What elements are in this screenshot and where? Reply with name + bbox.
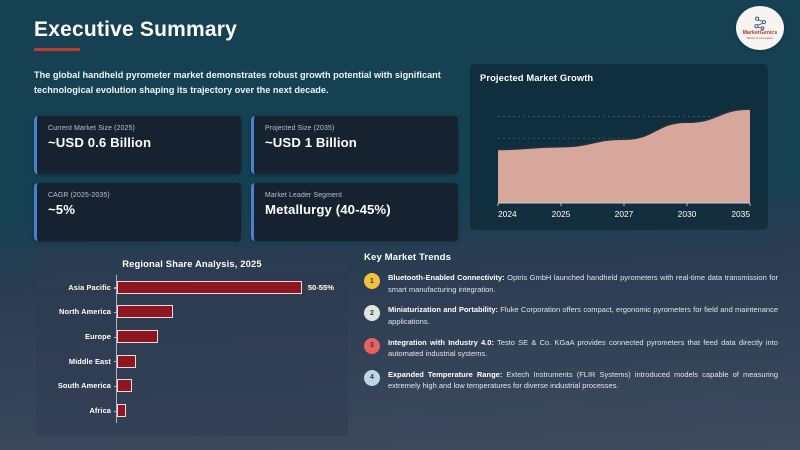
trend-item: 1Bluetooth-Enabled Connectivity: Optris … (364, 272, 778, 295)
slide-root: Executive Summary MarketGenics Minds In … (0, 0, 800, 450)
trend-heading: Integration with Industry 4.0: (388, 338, 494, 347)
logo-tagline: Minds In Innovation (747, 37, 773, 40)
bar-category-label: Middle East (69, 357, 111, 366)
metric-label: CAGR (2025-2035) (48, 192, 230, 199)
trend-text: Miniaturization and Portability: Fluke C… (388, 304, 778, 327)
bar-fill (117, 404, 126, 417)
bar-fill (117, 379, 132, 392)
trend-heading: Expanded Temperature Range: (388, 370, 502, 379)
trend-heading: Miniaturization and Portability: (388, 305, 498, 314)
chart-title: Projected Market Growth (480, 72, 758, 83)
bar-category-label: Asia Pacific (68, 283, 111, 292)
bar-category-label: Europe (85, 332, 111, 341)
logo-name: MarketGenics (743, 31, 778, 36)
header: Executive Summary (34, 18, 237, 51)
trend-item: 4Expanded Temperature Range: Extech Inst… (364, 369, 778, 392)
bar-fill (117, 330, 158, 343)
y-tick (114, 337, 117, 338)
bar-row: Middle East (117, 355, 334, 368)
metric-card: Projected Size (2035) ~USD 1 Billion (251, 116, 458, 174)
intro-paragraph: The global handheld pyrometer market dem… (34, 68, 444, 98)
metric-value: Metallurgy (40-45%) (265, 203, 447, 218)
x-tick-label: 2035 (731, 209, 750, 219)
metric-label: Projected Size (2035) (265, 125, 447, 132)
bar-row: Europe (117, 330, 334, 343)
page-title: Executive Summary (34, 18, 237, 41)
x-tick-label: 2027 (615, 209, 634, 219)
bar-category-label: North America (59, 307, 111, 316)
x-tick-label: 2030 (678, 209, 697, 219)
metric-value: ~5% (48, 203, 230, 218)
bar-chart: Asia Pacific50-55%North AmericaEuropeMid… (116, 275, 334, 423)
bar-fill (117, 305, 173, 318)
trend-number-badge: 2 (364, 305, 380, 321)
trend-text: Expanded Temperature Range: Extech Instr… (388, 369, 778, 392)
y-tick (114, 287, 117, 288)
bar-row: North America (117, 305, 334, 318)
chart-title: Regional Share Analysis, 2025 (44, 258, 340, 269)
trend-text: Integration with Industry 4.0: Testo SE … (388, 337, 778, 360)
trend-item: 3Integration with Industry 4.0: Testo SE… (364, 337, 778, 360)
bar-row: Africa (117, 404, 334, 417)
y-tick (114, 411, 117, 412)
y-tick (114, 361, 117, 362)
bar-value-label: 50-55% (308, 283, 334, 292)
regional-share-chart-panel: Regional Share Analysis, 2025 Asia Pacif… (36, 250, 348, 436)
y-tick (114, 386, 117, 387)
trend-heading: Bluetooth-Enabled Connectivity: (388, 273, 505, 282)
title-underline (34, 48, 80, 51)
y-tick (114, 312, 117, 313)
x-tick-label: 2025 (552, 209, 571, 219)
metric-value: ~USD 0.6 Billion (48, 136, 230, 151)
bar-category-label: South America (58, 381, 111, 390)
area-chart-svg: 20242025202720302035 (480, 85, 758, 225)
metric-cards: Current Market Size (2025) ~USD 0.6 Bill… (34, 116, 458, 241)
bar-category-label: Africa (89, 406, 111, 415)
trends-list: 1Bluetooth-Enabled Connectivity: Optris … (364, 272, 778, 392)
bar-row: Asia Pacific50-55% (117, 281, 334, 294)
metric-card: Current Market Size (2025) ~USD 0.6 Bill… (34, 116, 241, 174)
bar-row: South America (117, 379, 334, 392)
area-chart: 20242025202720302035 (480, 85, 758, 225)
brand-logo: MarketGenics Minds In Innovation (736, 6, 784, 50)
metric-card: Market Leader Segment Metallurgy (40-45%… (251, 183, 458, 241)
x-tick-label: 2024 (498, 209, 517, 219)
metric-label: Market Leader Segment (265, 192, 447, 199)
metric-label: Current Market Size (2025) (48, 125, 230, 132)
area-fill (498, 109, 750, 203)
trend-number-badge: 3 (364, 338, 380, 354)
projected-growth-chart-panel: Projected Market Growth 2024202520272030… (470, 64, 768, 230)
trend-number-badge: 4 (364, 370, 380, 386)
molecule-icon (752, 16, 769, 31)
bar-fill (117, 355, 136, 368)
bar-fill (117, 281, 302, 294)
metric-card: CAGR (2025-2035) ~5% (34, 183, 241, 241)
trend-item: 2Miniaturization and Portability: Fluke … (364, 304, 778, 327)
trends-title: Key Market Trends (364, 252, 778, 263)
trend-number-badge: 1 (364, 273, 380, 289)
key-market-trends: Key Market Trends 1Bluetooth-Enabled Con… (364, 252, 778, 401)
trend-text: Bluetooth-Enabled Connectivity: Optris G… (388, 272, 778, 295)
metric-value: ~USD 1 Billion (265, 136, 447, 151)
